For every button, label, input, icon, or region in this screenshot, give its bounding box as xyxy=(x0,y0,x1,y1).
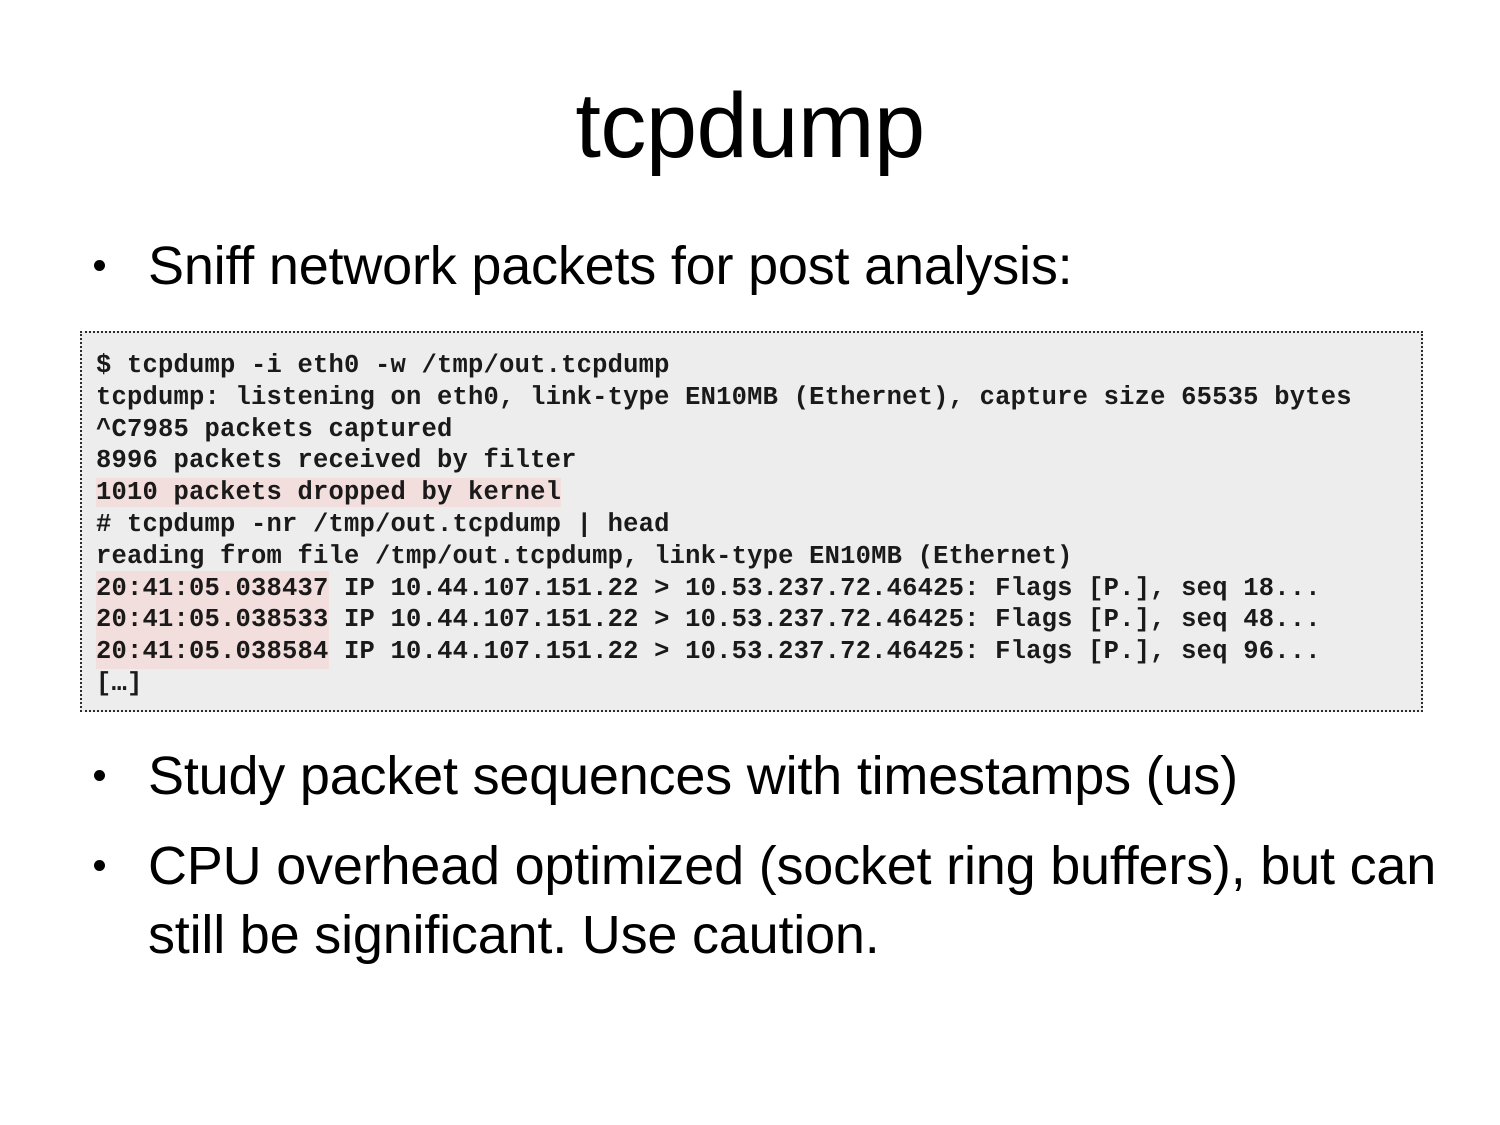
bullet-dot-icon xyxy=(94,860,105,871)
terminal-line-rest: IP 10.44.107.151.22 > 10.53.237.72.46425… xyxy=(329,605,1321,634)
timestamp-highlight: 20:41:05.038584 xyxy=(96,634,329,669)
bullet-text: Study packet sequences with timestamps (… xyxy=(148,746,1238,806)
bullet-dot-icon xyxy=(94,260,105,271)
terminal-line: ^C7985 packets captured xyxy=(96,414,1421,446)
bullet-item-cpu: CPU overhead optimized (socket ring buff… xyxy=(80,832,1448,970)
terminal-line: 20:41:05.038437 IP 10.44.107.151.22 > 10… xyxy=(96,573,1421,605)
terminal-output-lines: $ tcpdump -i eth0 -w /tmp/out.tcpdumptcp… xyxy=(96,350,1421,700)
terminal-line: tcpdump: listening on eth0, link-type EN… xyxy=(96,382,1421,414)
terminal-line-rest: IP 10.44.107.151.22 > 10.53.237.72.46425… xyxy=(329,637,1321,666)
page-title: tcpdump xyxy=(0,78,1500,175)
terminal-line: 8996 packets received by filter xyxy=(96,445,1421,477)
bullet-item-sniff: Sniff network packets for post analysis: xyxy=(80,232,1440,301)
timestamp-highlight: 20:41:05.038533 xyxy=(96,602,329,637)
bullet-text: CPU overhead optimized (socket ring buff… xyxy=(148,836,1436,965)
terminal-line: 1010 packets dropped by kernel xyxy=(96,477,1421,509)
terminal-line: $ tcpdump -i eth0 -w /tmp/out.tcpdump xyxy=(96,350,1421,382)
terminal-line: reading from file /tmp/out.tcpdump, link… xyxy=(96,541,1421,573)
terminal-output-box: $ tcpdump -i eth0 -w /tmp/out.tcpdumptcp… xyxy=(80,331,1423,712)
terminal-line-highlight: 1010 packets dropped by kernel xyxy=(96,478,561,507)
timestamp-highlight: 20:41:05.038437 xyxy=(96,571,329,606)
slide-canvas: tcpdump Sniff network packets for post a… xyxy=(0,0,1500,1125)
terminal-line: # tcpdump -nr /tmp/out.tcpdump | head xyxy=(96,509,1421,541)
slide-body: Sniff network packets for post analysis:… xyxy=(80,232,1440,301)
bullet-dot-icon xyxy=(94,770,105,781)
terminal-line: 20:41:05.038533 IP 10.44.107.151.22 > 10… xyxy=(96,604,1421,636)
terminal-line: 20:41:05.038584 IP 10.44.107.151.22 > 10… xyxy=(96,636,1421,668)
terminal-line-rest: IP 10.44.107.151.22 > 10.53.237.72.46425… xyxy=(329,574,1321,603)
bullet-item-study: Study packet sequences with timestamps (… xyxy=(80,742,1500,811)
terminal-line: […] xyxy=(96,668,1421,700)
bullet-text: Sniff network packets for post analysis: xyxy=(148,236,1072,296)
